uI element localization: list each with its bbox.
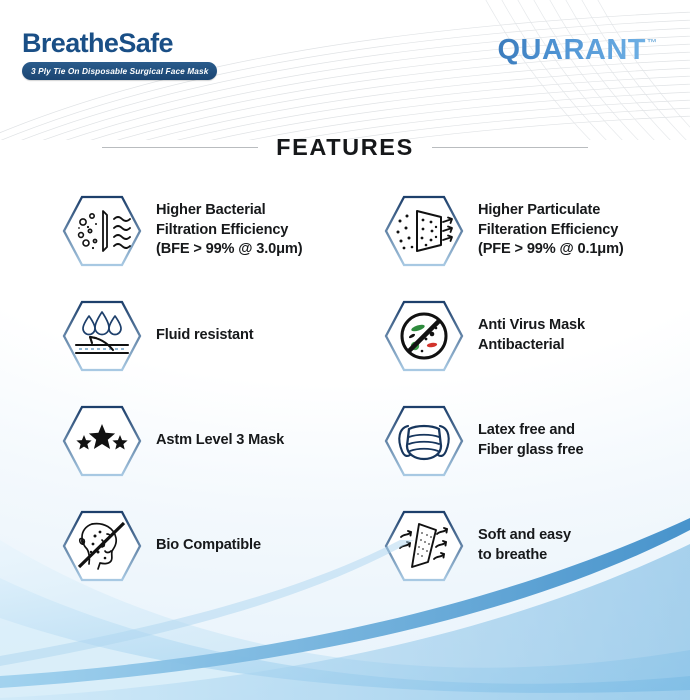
face-mask-icon xyxy=(384,401,464,481)
particulate-filtration-icon xyxy=(384,191,464,271)
feature-line: Filtration Efficiency xyxy=(156,221,302,241)
feature-label: Anti Virus Mask Antibacterial xyxy=(478,316,585,355)
fluid-resistant-droplet-icon xyxy=(62,296,142,376)
features-heading: FEATURES xyxy=(0,134,690,161)
heading-rule-left xyxy=(102,147,258,148)
brand-block: BreatheSafe 3 Ply Tie On Disposable Surg… xyxy=(22,30,217,80)
feature-line: Fluid resistant xyxy=(156,326,254,346)
feature-label: Astm Level 3 Mask xyxy=(156,431,284,451)
feature-line: Filteration Efficiency xyxy=(478,221,624,241)
bottom-wave-decoration xyxy=(0,500,690,700)
brand-name: BreatheSafe xyxy=(22,30,217,57)
feature-item-fluid-resistant: Fluid resistant xyxy=(62,283,362,388)
feature-line: Anti Virus Mask xyxy=(478,316,585,336)
anti-virus-no-germs-icon xyxy=(384,296,464,376)
feature-line: Astm Level 3 Mask xyxy=(156,431,284,451)
infographic-canvas: BreatheSafe 3 Ply Tie On Disposable Surg… xyxy=(0,0,690,700)
feature-label: Higher Particulate Filteration Efficienc… xyxy=(478,201,624,260)
feature-label: Latex free and Fiber glass free xyxy=(478,421,583,460)
quarant-logo-text: QUARANT xyxy=(498,36,647,65)
feature-line: Higher Particulate xyxy=(478,201,624,221)
bacterial-filtration-icon xyxy=(62,191,142,271)
feature-line: Fiber glass free xyxy=(478,441,583,461)
feature-item-anti-virus: Anti Virus Mask Antibacterial xyxy=(384,283,684,388)
feature-line: Higher Bacterial xyxy=(156,201,302,221)
feature-label: Higher Bacterial Filtration Efficiency (… xyxy=(156,201,302,260)
page-title: FEATURES xyxy=(276,134,414,161)
feature-line: Antibacterial xyxy=(478,336,585,356)
heading-rule-right xyxy=(432,147,588,148)
feature-line: (BFE > 99% @ 3.0μm) xyxy=(156,240,302,260)
three-stars-icon xyxy=(62,401,142,481)
quarant-logo: QUARANT ™ xyxy=(498,36,647,65)
feature-item-astm-level-3: Astm Level 3 Mask xyxy=(62,388,362,493)
feature-item-particulate-filtration: Higher Particulate Filteration Efficienc… xyxy=(384,178,684,283)
header: BreatheSafe 3 Ply Tie On Disposable Surg… xyxy=(0,0,690,118)
feature-line: Latex free and xyxy=(478,421,583,441)
brand-tagline-badge: 3 Ply Tie On Disposable Surgical Face Ma… xyxy=(22,62,217,80)
feature-item-bacterial-filtration: Higher Bacterial Filtration Efficiency (… xyxy=(62,178,362,283)
feature-label: Fluid resistant xyxy=(156,326,254,346)
feature-item-latex-free: Latex free and Fiber glass free xyxy=(384,388,684,493)
feature-line: (PFE > 99% @ 0.1μm) xyxy=(478,240,624,260)
trademark-symbol: ™ xyxy=(647,38,657,49)
